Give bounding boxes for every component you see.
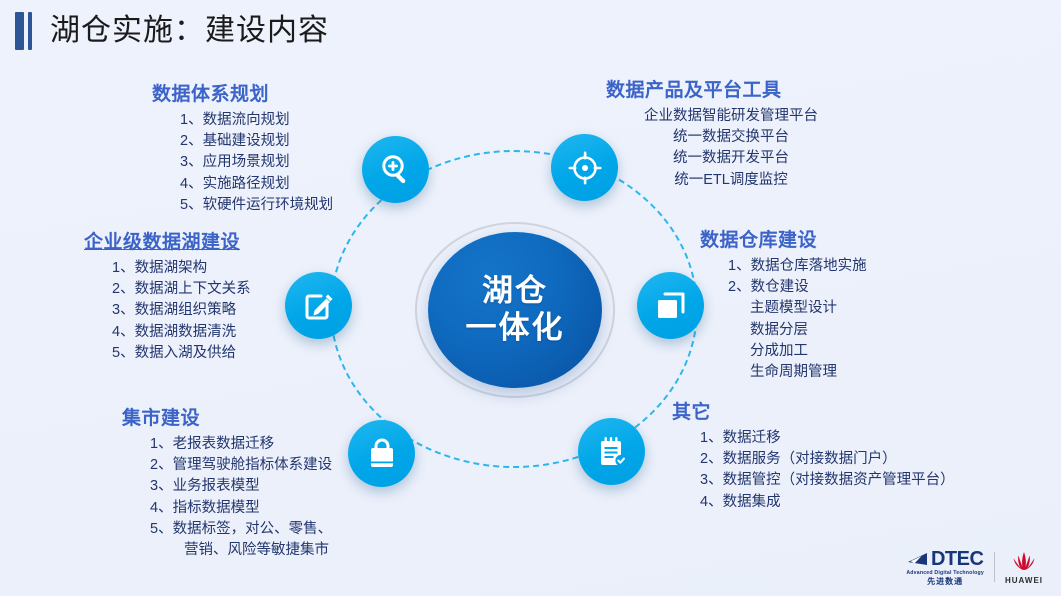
list-item: 统一ETL调度监控	[606, 170, 856, 191]
block-list: 1、数据仓库落地实施 2、数仓建设 主题模型设计 数据分层 分成加工 生命周期管…	[700, 256, 867, 384]
dtec-arrow-icon	[907, 552, 929, 569]
dtec-logo: DTEC Advanced Digital Technology 先进数通	[906, 549, 984, 586]
center-core-line1: 湖仓	[482, 273, 548, 310]
block-list: 1、数据湖架构 2、数据湖上下文关系 3、数据湖组织策略 4、数据湖数据清洗 5…	[84, 258, 251, 365]
block-data-mart: 集市建设 1、老报表数据迁移 2、管理驾驶舱指标体系建设 3、业务报表模型 4、…	[122, 408, 332, 562]
list-item: 2、数仓建设	[728, 277, 867, 298]
copy-layers-icon	[653, 288, 689, 324]
block-heading: 数据体系规划	[152, 84, 333, 107]
dtec-wordmark: DTEC	[931, 549, 983, 569]
magnifier-plus-icon	[378, 152, 414, 188]
block-heading: 数据产品及平台工具	[606, 80, 856, 103]
list-item: 2、数据湖上下文关系	[112, 279, 251, 300]
node-bottom-right[interactable]	[578, 418, 645, 485]
huawei-wordmark: HUAWEI	[1005, 577, 1043, 585]
block-list: 1、数据流向规划 2、基础建设规划 3、应用场景规划 4、实施路径规划 5、软硬…	[152, 110, 333, 217]
node-middle-right[interactable]	[637, 272, 704, 339]
list-item: 统一数据开发平台	[606, 148, 856, 169]
list-item: 2、数据服务（对接数据门户）	[700, 449, 955, 470]
list-item: 3、应用场景规划	[180, 152, 333, 173]
list-item: 1、老报表数据迁移	[150, 434, 332, 455]
list-item: 企业数据智能研发管理平台	[606, 106, 856, 127]
list-item-continuation: 营销、风险等敏捷集市	[150, 540, 332, 561]
block-list: 企业数据智能研发管理平台 统一数据交换平台 统一数据开发平台 统一ETL调度监控	[606, 106, 856, 191]
dtec-chinese-name: 先进数通	[927, 578, 963, 586]
list-subitem: 数据分层	[728, 320, 867, 341]
title-bar-thick	[15, 12, 24, 50]
node-top-left[interactable]	[362, 136, 429, 203]
dtec-logo-row: DTEC	[907, 549, 983, 569]
list-item: 3、数据管控（对接数据资产管理平台）	[700, 470, 955, 491]
shopping-bag-icon	[364, 436, 400, 472]
node-bottom-left[interactable]	[348, 420, 415, 487]
block-list: 1、老报表数据迁移 2、管理驾驶舱指标体系建设 3、业务报表模型 4、指标数据模…	[122, 434, 332, 562]
block-heading: 企业级数据湖建设	[84, 232, 251, 255]
footer-logos: DTEC Advanced Digital Technology 先进数通 HU…	[906, 549, 1043, 586]
slide-canvas: 湖仓实施：建设内容 湖仓 一体化	[0, 0, 1061, 596]
list-item: 2、基础建设规划	[180, 131, 333, 152]
list-item: 4、实施路径规划	[180, 174, 333, 195]
list-item: 1、数据湖架构	[112, 258, 251, 279]
logo-divider	[994, 552, 995, 582]
list-item: 4、数据集成	[700, 492, 955, 513]
block-heading: 集市建设	[122, 408, 332, 431]
block-list: 1、数据迁移 2、数据服务（对接数据门户） 3、数据管控（对接数据资产管理平台）…	[672, 428, 955, 513]
block-data-warehouse: 数据仓库建设 1、数据仓库落地实施 2、数仓建设 主题模型设计 数据分层 分成加…	[700, 230, 867, 384]
list-item: 3、业务报表模型	[150, 476, 332, 497]
block-enterprise-data-lake: 企业级数据湖建设 1、数据湖架构 2、数据湖上下文关系 3、数据湖组织策略 4、…	[84, 232, 251, 364]
crosshair-target-icon	[567, 150, 603, 186]
page-title-text: 湖仓实施：建设内容	[50, 16, 329, 46]
edit-pencil-square-icon	[301, 288, 337, 324]
notepad-check-icon	[594, 434, 630, 470]
block-data-products-platform-tools: 数据产品及平台工具 企业数据智能研发管理平台 统一数据交换平台 统一数据开发平台…	[606, 80, 856, 191]
list-item: 1、数据迁移	[700, 428, 955, 449]
title-bar-thin	[28, 12, 32, 50]
list-item: 4、数据湖数据清洗	[112, 322, 251, 343]
huawei-logo: HUAWEI	[1005, 550, 1043, 585]
list-item: 5、数据入湖及供给	[112, 343, 251, 364]
list-item: 4、指标数据模型	[150, 498, 332, 519]
title-accent-bars-icon	[15, 12, 32, 50]
list-subitem: 生命周期管理	[728, 362, 867, 383]
list-item: 5、数据标签，对公、零售、	[150, 519, 332, 540]
center-core-circle: 湖仓 一体化	[428, 232, 602, 388]
list-item: 统一数据交换平台	[606, 127, 856, 148]
list-item: 3、数据湖组织策略	[112, 300, 251, 321]
list-item: 1、数据流向规划	[180, 110, 333, 131]
list-item: 2、管理驾驶舱指标体系建设	[150, 455, 332, 476]
list-item: 1、数据仓库落地实施	[728, 256, 867, 277]
block-heading: 其它	[672, 402, 955, 425]
block-others: 其它 1、数据迁移 2、数据服务（对接数据门户） 3、数据管控（对接数据资产管理…	[672, 402, 955, 513]
center-core-line2: 一体化	[466, 310, 565, 347]
page-title: 湖仓实施：建设内容	[15, 12, 329, 50]
node-middle-left[interactable]	[285, 272, 352, 339]
list-subitem: 主题模型设计	[728, 298, 867, 319]
block-data-system-planning: 数据体系规划 1、数据流向规划 2、基础建设规划 3、应用场景规划 4、实施路径…	[152, 84, 333, 216]
huawei-flower-icon	[1009, 550, 1039, 574]
list-item: 5、软硬件运行环境规划	[180, 195, 333, 216]
block-heading: 数据仓库建设	[700, 230, 867, 253]
list-subitem: 分成加工	[728, 341, 867, 362]
dtec-tagline: Advanced Digital Technology	[906, 571, 984, 576]
